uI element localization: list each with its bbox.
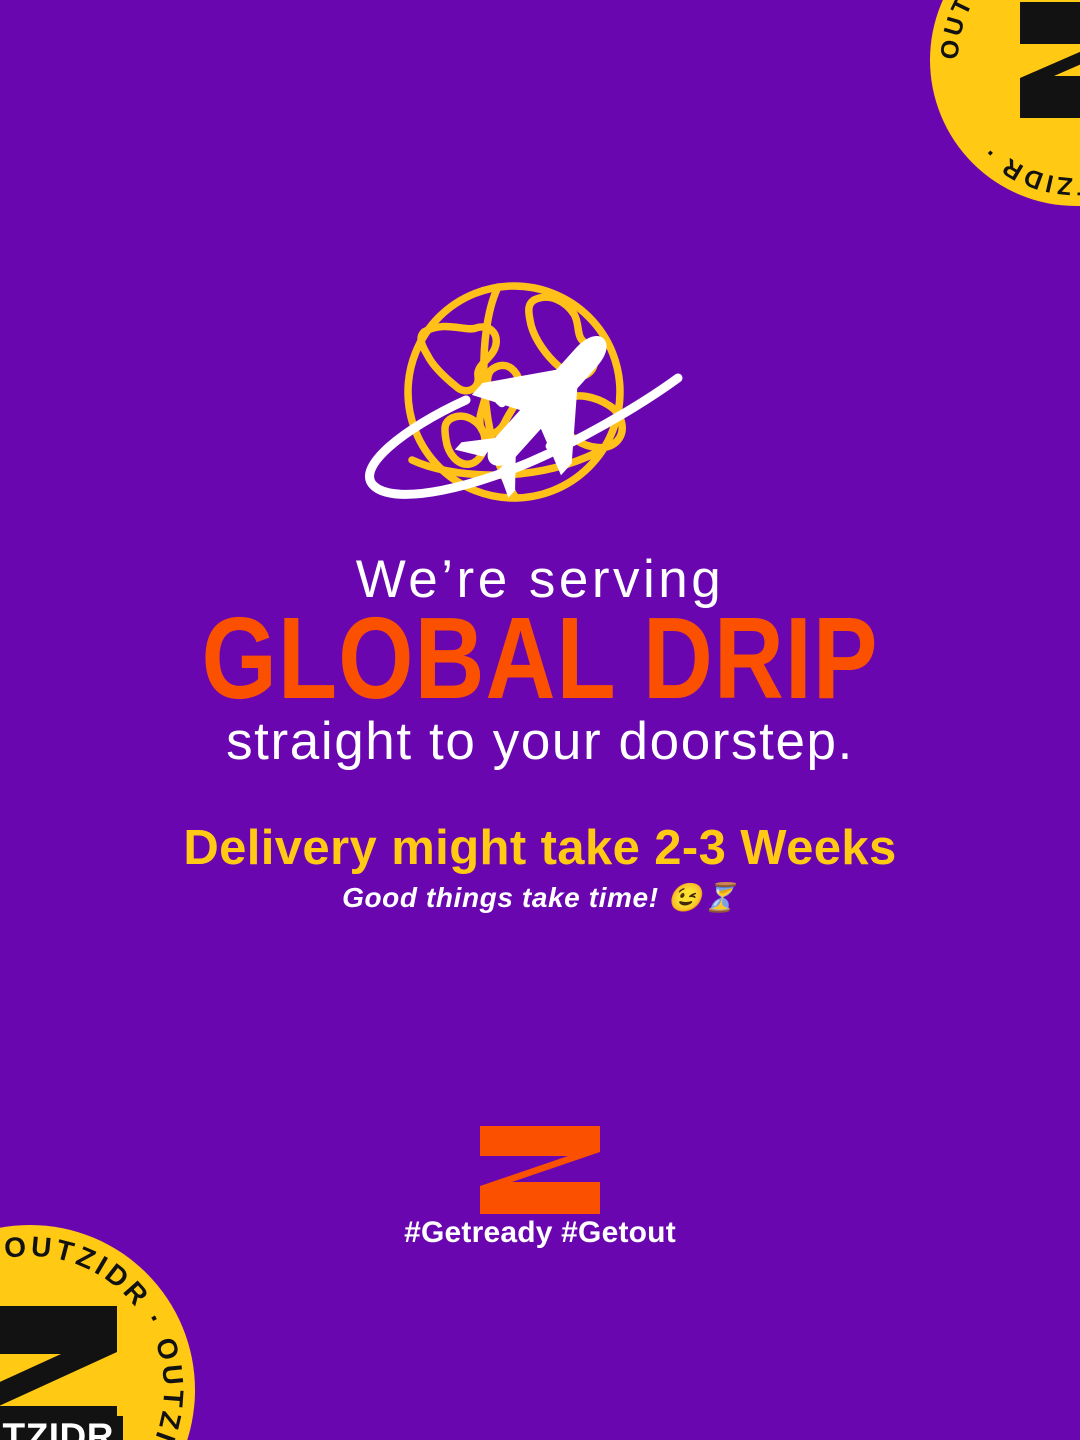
delivery-time-subnote: Good things take time! 😉⏳ (0, 880, 1080, 916)
poster-canvas: OUTZIDR · OUTZIDR · OUTZIDR · OUTZIDR · … (0, 0, 1080, 1440)
globe-airplane-icon (348, 272, 732, 520)
badge-z-mark-top-right (1012, 0, 1080, 122)
badge-wordmark: OUTZIDR (0, 1416, 114, 1440)
badge-z-mark-bottom-left: OUTZIDR (0, 1304, 123, 1440)
brand-logo-z-mark (0, 1124, 1080, 1216)
footer-hashtags: #Getready #Getout (0, 1216, 1080, 1250)
headline-global-drip: GLOBAL DRIP (0, 610, 1080, 710)
brand-badge-top-right: OUTZIDR · OUTZIDR · OUTZIDR · OUTZIDR · (930, 0, 1080, 206)
delivery-time-note: Delivery might take 2-3 Weeks (0, 820, 1080, 876)
brand-badge-bottom-left: OUTZIDR · OUTZIDR · OUTZIDR · OUTZIDR · … (0, 1225, 195, 1440)
subheadline-text: straight to your doorstep. (0, 712, 1080, 773)
headline-text: GLOBAL DRIP (202, 599, 879, 721)
